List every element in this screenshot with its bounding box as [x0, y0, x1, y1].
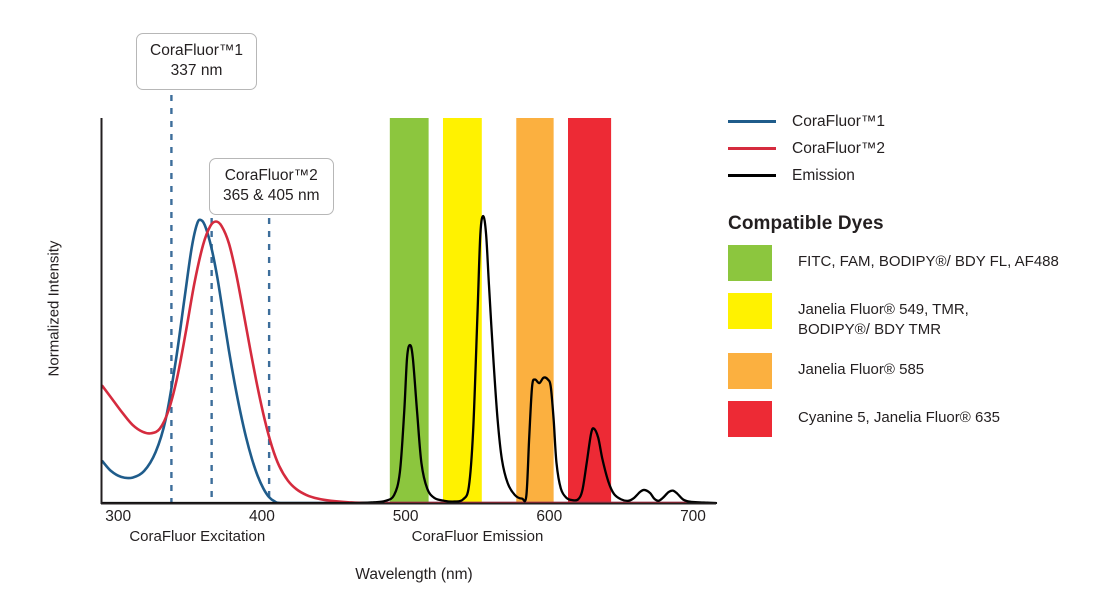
legend: CoraFluor™1 CoraFluor™2 Emission Compati…	[728, 108, 1100, 449]
dye-swatch-yellow	[728, 293, 772, 329]
legend-line-swatch-corafluor-2	[728, 147, 776, 150]
dye-swatch-red	[728, 401, 772, 437]
legend-row-corafluor-2: CoraFluor™2	[728, 135, 1100, 162]
callout-corafluor-2: CoraFluor™2 365 & 405 nm	[209, 158, 334, 215]
x-tick-700: 700	[663, 508, 723, 526]
legend-line-swatch-emission	[728, 174, 776, 177]
callout-1-line2: 337 nm	[150, 61, 243, 81]
legend-label-corafluor-2: CoraFluor™2	[792, 140, 885, 158]
legend-label-corafluor-1: CoraFluor™1	[792, 113, 885, 131]
dye-swatch-green	[728, 245, 772, 281]
dye-label-red: Cyanine 5, Janelia Fluor® 635	[798, 401, 1000, 428]
dye-row-orange: Janelia Fluor® 585	[728, 353, 1100, 389]
dye-label-yellow-line2: BODIPY®/ BDY TMR	[798, 320, 969, 340]
callout-corafluor-1: CoraFluor™1 337 nm	[136, 33, 257, 90]
fluorescence-spectra-figure: CoraFluor™1 337 nm CoraFluor™2 365 & 405…	[0, 0, 1110, 612]
dye-row-red: Cyanine 5, Janelia Fluor® 635	[728, 401, 1100, 437]
orange-band	[516, 118, 553, 503]
legend-row-emission: Emission	[728, 162, 1100, 189]
x-tick-300: 300	[88, 508, 148, 526]
dye-label-green-line1: FITC, FAM, BODIPY®/ BDY FL, AF488	[798, 253, 1059, 270]
dye-row-green: FITC, FAM, BODIPY®/ BDY FL, AF488	[728, 245, 1100, 281]
dye-label-red-line1: Cyanine 5, Janelia Fluor® 635	[798, 409, 1000, 426]
dye-label-yellow: Janelia Fluor® 549, TMR, BODIPY®/ BDY TM…	[798, 293, 969, 341]
x-axis-section-label-excitation: CoraFluor Excitation	[87, 528, 307, 545]
legend-line-swatch-corafluor-1	[728, 120, 776, 123]
dye-row-yellow: Janelia Fluor® 549, TMR, BODIPY®/ BDY TM…	[728, 293, 1100, 341]
dye-label-green: FITC, FAM, BODIPY®/ BDY FL, AF488	[798, 245, 1059, 272]
dye-label-orange: Janelia Fluor® 585	[798, 353, 924, 380]
x-axis-title: Wavelength (nm)	[0, 566, 828, 584]
callout-1-line1: CoraFluor™1	[150, 41, 243, 61]
x-tick-600: 600	[519, 508, 579, 526]
compatible-dyes-heading: Compatible Dyes	[728, 213, 1100, 235]
legend-label-emission: Emission	[792, 167, 855, 185]
dye-label-orange-line1: Janelia Fluor® 585	[798, 361, 924, 378]
dye-swatch-orange	[728, 353, 772, 389]
y-axis-title: Normalized Intensity	[46, 219, 63, 399]
dye-label-yellow-line1: Janelia Fluor® 549, TMR,	[798, 301, 969, 318]
x-tick-500: 500	[376, 508, 436, 526]
callout-2-line1: CoraFluor™2	[223, 166, 320, 186]
x-axis-section-label-emission: CoraFluor Emission	[367, 528, 587, 545]
yellow-band	[443, 118, 482, 503]
x-tick-400: 400	[232, 508, 292, 526]
legend-row-corafluor-1: CoraFluor™1	[728, 108, 1100, 135]
green-band	[390, 118, 429, 503]
callout-2-line2: 365 & 405 nm	[223, 186, 320, 206]
